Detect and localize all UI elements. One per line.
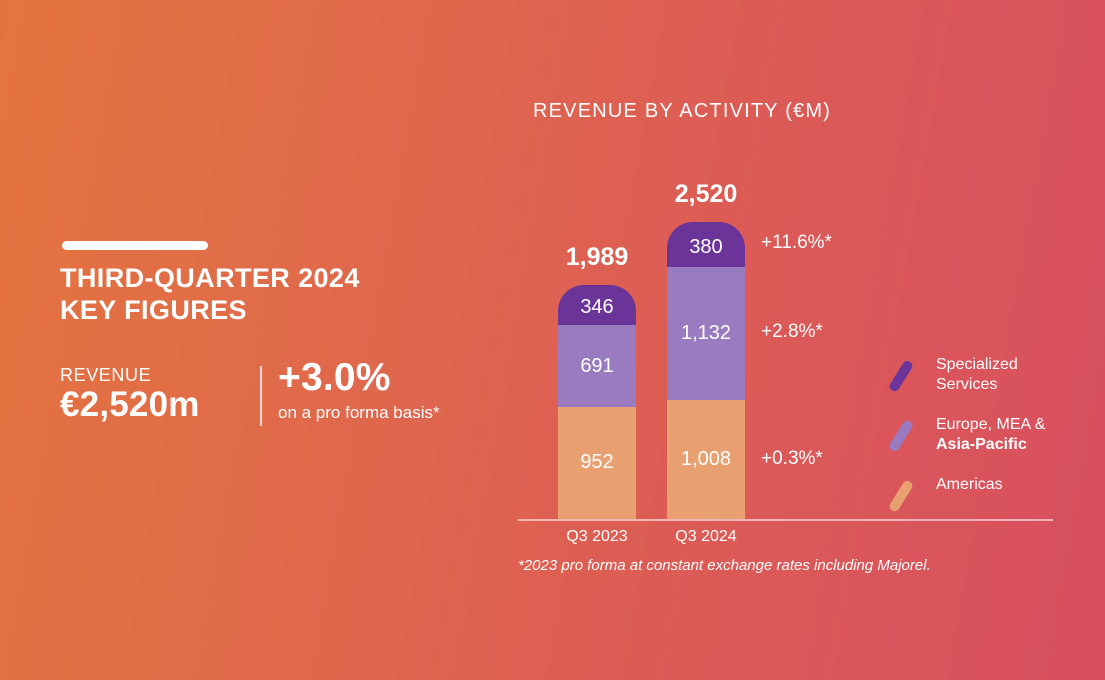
revenue-label: REVENUE — [60, 365, 151, 386]
page-title-line1: THIRD-QUARTER 2024 — [60, 263, 360, 293]
bar-segment-value: 952 — [580, 451, 613, 474]
growth-delta-label: +0.3%* — [761, 448, 823, 470]
legend-swatch-icon — [888, 479, 914, 513]
legend-item[interactable]: Americas — [896, 475, 1096, 513]
growth-delta-label: +2.8%* — [761, 321, 823, 343]
legend-item[interactable]: Europe, MEA &Asia-Pacific — [896, 415, 1096, 453]
bar-segment-americas[interactable]: 952 — [558, 407, 636, 519]
chart-footnote: *2023 pro forma at constant exchange rat… — [518, 557, 931, 574]
growth-value: +3.0% — [278, 358, 391, 397]
bar-q3-2024[interactable]: 1,0081,132380 — [667, 222, 745, 519]
legend-swatch-icon — [888, 419, 914, 453]
bar-segment-specialized-services[interactable]: 380 — [667, 222, 745, 267]
growth-delta-label: +11.6%* — [761, 232, 832, 254]
bar-q3-2023[interactable]: 952691346 — [558, 285, 636, 519]
bar-total-label: 2,520 — [646, 180, 766, 209]
page-title: THIRD-QUARTER 2024 KEY FIGURES — [60, 263, 490, 327]
bar-segment-specialized-services[interactable]: 346 — [558, 285, 636, 326]
legend-label-line1: Europe, MEA & — [936, 416, 1045, 433]
revenue-value: €2,520m — [60, 385, 200, 425]
legend-item[interactable]: SpecializedServices — [896, 355, 1096, 393]
legend-label-line2: Services — [936, 375, 1101, 395]
legend-label-line2: Asia-Pacific — [936, 435, 1101, 455]
legend-label-line1: Americas — [936, 476, 1003, 493]
bar-segment-value: 1,008 — [681, 448, 731, 471]
bar-segment-value: 380 — [689, 236, 722, 259]
slide-canvas: THIRD-QUARTER 2024 KEY FIGURES REVENUE €… — [0, 0, 1105, 680]
bar-total-label: 1,989 — [537, 243, 657, 272]
legend-label: Americas — [936, 475, 1101, 495]
x-axis-tick-label: Q3 2024 — [646, 528, 766, 546]
x-axis-tick-label: Q3 2023 — [537, 528, 657, 546]
growth-note: on a pro forma basis* — [278, 403, 440, 423]
title-accent-bar — [62, 241, 208, 250]
legend-label-line1: Specialized — [936, 356, 1018, 373]
bar-segment-value: 346 — [580, 296, 613, 319]
chart-legend: SpecializedServicesEurope, MEA &Asia-Pac… — [896, 355, 1096, 535]
page-title-line2: KEY FIGURES — [60, 295, 490, 327]
vertical-divider — [260, 366, 262, 426]
chart-title: REVENUE BY ACTIVITY (€M) — [533, 100, 831, 123]
bar-segment-americas[interactable]: 1,008 — [667, 400, 745, 519]
legend-swatch-icon — [888, 359, 914, 393]
legend-label: SpecializedServices — [936, 355, 1101, 395]
bar-segment-europe-mea-asia-pacific[interactable]: 691 — [558, 325, 636, 406]
bar-segment-value: 1,132 — [681, 322, 731, 345]
bar-segment-europe-mea-asia-pacific[interactable]: 1,132 — [667, 267, 745, 400]
legend-label: Europe, MEA &Asia-Pacific — [936, 415, 1101, 455]
bar-segment-value: 691 — [580, 355, 613, 378]
